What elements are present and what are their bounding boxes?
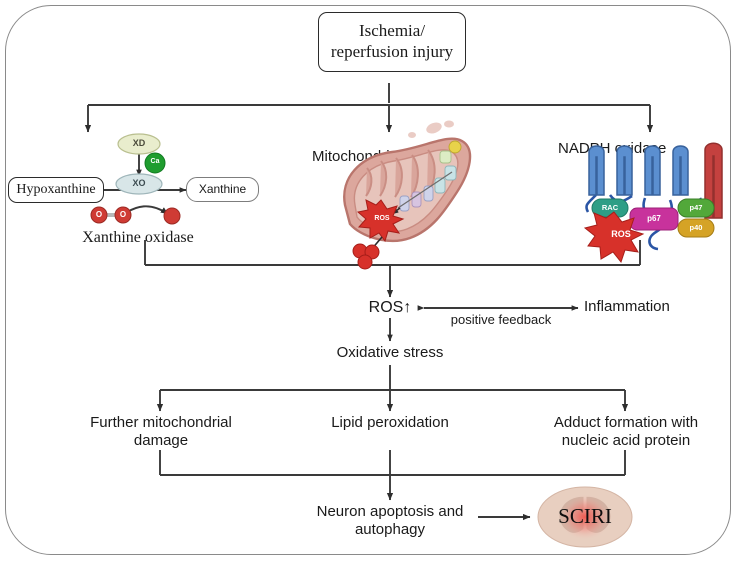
nadph-ros-label: ROS — [600, 229, 642, 240]
xanthine-oxidase-caption: Xanthine oxidase — [58, 228, 218, 248]
branch-lipid-peroxidation: Lipid peroxidation — [300, 414, 480, 432]
inflammation-node: Inflammation — [584, 298, 704, 316]
positive-feedback-label: positive feedback — [426, 312, 576, 328]
branch-further-mitochondrial-damage: Further mitochondrial damage — [66, 414, 256, 451]
xo-label: XO — [119, 178, 159, 189]
ros-up-arrow-icon: ↑ — [403, 299, 411, 316]
subunit-label-rac: RAC — [594, 203, 626, 212]
oxygen-label-1: O — [92, 210, 106, 220]
diagram-frame — [5, 5, 731, 555]
branch-adduct-formation: Adduct formation with nucleic acid prote… — [528, 414, 724, 451]
subunit-label-p67: p67 — [638, 214, 670, 224]
subunit-label-p47: p47 — [680, 203, 712, 212]
nadph-oxidase-label: NADPH oxidase — [558, 140, 698, 158]
hypoxanthine-label: Hypoxanthine — [16, 181, 95, 198]
hypoxanthine-box: Hypoxanthine — [8, 177, 104, 203]
diagram-canvas: Ischemia/ reperfusion injury Hypoxanthin… — [0, 0, 738, 562]
mitochondria-ros-label: ROS — [365, 215, 399, 224]
neuron-apoptosis-node: Neuron apoptosis and autophagy — [300, 503, 480, 540]
ros-node: ROS↑ — [352, 298, 428, 318]
xanthine-label: Xanthine — [199, 182, 246, 197]
oxygen-label-2: O — [116, 210, 130, 220]
trigger-line-2: reperfusion injury — [331, 42, 453, 63]
calcium-label: Ca — [145, 158, 165, 167]
subunit-label-p40: p40 — [680, 223, 712, 232]
sciri-label: SCIRI — [545, 504, 625, 530]
trigger-line-1: Ischemia/ — [359, 21, 425, 42]
xanthine-box: Xanthine — [186, 177, 259, 202]
oxidative-stress-node: Oxidative stress — [318, 344, 462, 362]
xd-label: XD — [119, 138, 159, 149]
ros-label: ROS — [369, 299, 404, 316]
mitochondria-label: Mitochondria — [312, 148, 430, 166]
trigger-box: Ischemia/ reperfusion injury — [318, 12, 466, 72]
